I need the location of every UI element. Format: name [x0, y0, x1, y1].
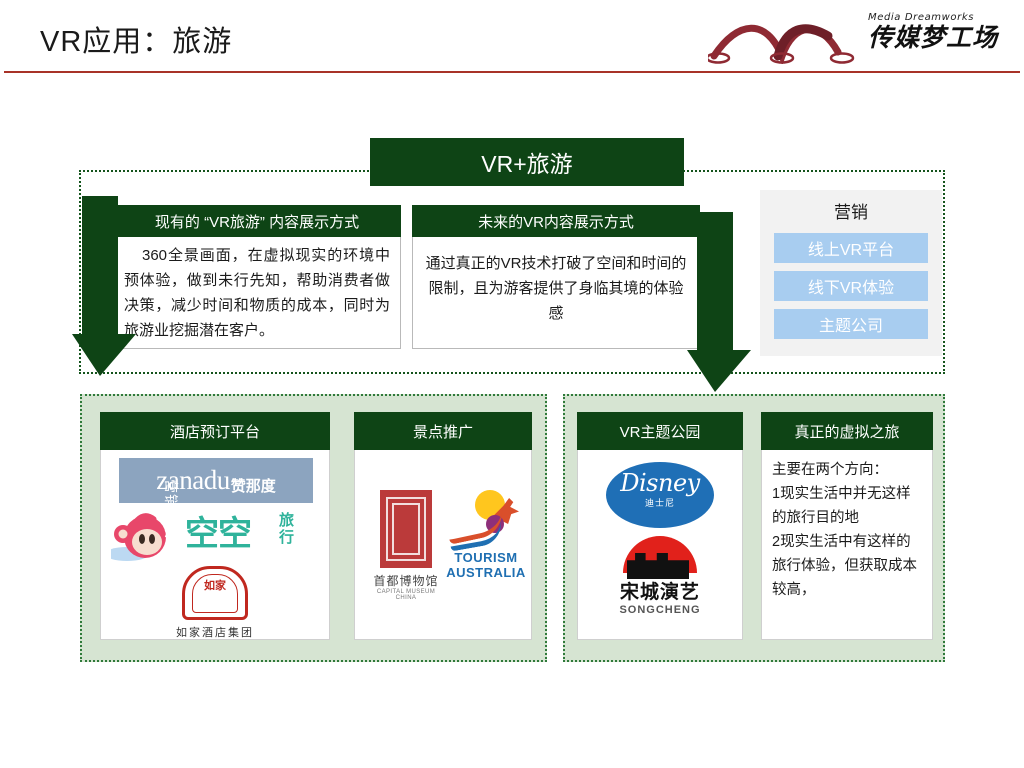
card-hotel-booking-title: 酒店预订平台 — [100, 412, 330, 450]
lower-dashed-region-left: 酒店预订平台 zanadu 赞那度 空空 旅 — [80, 394, 547, 662]
zanadu-logo: zanadu 赞那度 — [119, 458, 313, 503]
tourism-australia-line1: TOURISM — [443, 550, 529, 565]
card-hotel-booking: 酒店预订平台 zanadu 赞那度 空空 旅 — [100, 412, 330, 640]
kongkong-logo-suffix-top: 旅 — [279, 512, 294, 529]
card-vr-theme-park: VR主题公园 Disney 迪士尼 宋城演艺 SONGCHENG — [577, 412, 743, 640]
tourism-australia-line2: AUSTRALIA — [443, 565, 529, 580]
card-hotel-booking-body: zanadu 赞那度 空空 旅 行 — [100, 450, 330, 640]
arch-logo-mark-icon — [708, 16, 863, 64]
capital-museum-seal-icon — [380, 490, 432, 568]
card-true-virtual-trip: 真正的虚拟之旅 主要在两个方向： 1现实生活中并无这样的旅行目的地 2现实生活中… — [761, 412, 933, 640]
card-scenic-promotion: 景点推广 首都博物馆 CAPITAL MUSEUM CHINA TOURISM … — [354, 412, 532, 640]
panel-future-body: 通过真正的VR技术打破了空间和时间的限制，且为游客提供了身临其境的体验感 — [412, 237, 700, 349]
arrow-experience: 体验消费 — [683, 212, 755, 394]
songcheng-logo-english: SONGCHENG — [604, 604, 716, 616]
card-scenic-promotion-title: 景点推广 — [354, 412, 532, 450]
panel-current-title: 现有的 “VR旅游” 内容展示方式 — [113, 205, 401, 237]
card-scenic-promotion-body: 首都博物馆 CAPITAL MUSEUM CHINA TOURISM AUSTR… — [354, 450, 532, 640]
marketing-item-offline-vr-experience[interactable]: 线下VR体验 — [774, 271, 928, 301]
panel-future-title: 未来的VR内容展示方式 — [412, 205, 700, 237]
panel-current-body: 360全景画面，在虚拟现实的环境中预体验，做到未行先知，帮助消费者做决策，减少时… — [113, 237, 401, 349]
disney-logo: Disney 迪士尼 — [606, 462, 714, 528]
capital-museum-logo: 首都博物馆 CAPITAL MUSEUM CHINA — [367, 490, 445, 601]
logo-chinese-text: 传媒梦工场 — [868, 23, 1008, 53]
brand-logo: Media Dreamworks 传媒梦工场 — [708, 10, 1008, 66]
zanadu-logo-chinese: 赞那度 — [231, 475, 276, 496]
marketing-box: 营销 线上VR平台 线下VR体验 主题公司 — [760, 190, 942, 356]
songcheng-logo: 宋城演艺 SONGCHENG — [604, 536, 716, 616]
capital-museum-english: CAPITAL MUSEUM CHINA — [367, 589, 445, 601]
lower-dashed-region-right: VR主题公园 Disney 迪士尼 宋城演艺 SONGCHENG 真正的虚拟之旅… — [563, 394, 945, 662]
kongkong-logo-suffix-bottom: 行 — [279, 529, 294, 546]
home-inn-mark: 如家 — [192, 574, 238, 613]
songcheng-mark-icon — [623, 536, 697, 582]
marketing-item-online-vr-platform[interactable]: 线上VR平台 — [774, 233, 928, 263]
vr-tourism-banner: VR+旅游 — [370, 138, 684, 186]
panel-current-vr-tourism: 现有的 “VR旅游” 内容展示方式 360全景画面，在虚拟现实的环境中预体验，做… — [113, 205, 401, 349]
home-inn-logo: 如家 如家酒店集团 — [163, 566, 267, 636]
card-vr-theme-park-body: Disney 迪士尼 宋城演艺 SONGCHENG — [577, 450, 743, 640]
card-true-virtual-trip-body: 主要在两个方向： 1现实生活中并无这样的旅行目的地 2现实生活中有这样的旅行体验… — [761, 450, 933, 640]
home-inn-caption: 如家酒店集团 — [163, 624, 267, 640]
kongkong-travel-logo: 空空 旅 行 — [111, 508, 321, 564]
page-title: VR应用：旅游 — [40, 18, 232, 60]
card-vr-theme-park-title: VR主题公园 — [577, 412, 743, 450]
arrow-marketing-label: 营销手段 — [161, 479, 181, 539]
marketing-item-theme-company[interactable]: 主题公司 — [774, 309, 928, 339]
card-true-virtual-trip-title: 真正的虚拟之旅 — [761, 412, 933, 450]
tourism-australia-logo: TOURISM AUSTRALIA — [443, 488, 529, 580]
logo-english-text: Media Dreamworks — [868, 12, 1008, 23]
logo-text: Media Dreamworks 传媒梦工场 — [868, 12, 1008, 53]
tourism-australia-kangaroo-icon — [443, 488, 529, 550]
songcheng-logo-chinese: 宋城演艺 — [604, 582, 716, 604]
capital-museum-chinese: 首都博物馆 — [367, 572, 445, 589]
home-inn-shield-icon: 如家 — [182, 566, 248, 620]
kongkong-logo-chinese: 空空 — [185, 514, 251, 554]
panel-future-vr: 未来的VR内容展示方式 通过真正的VR技术打破了空间和时间的限制，且为游客提供了… — [412, 205, 700, 349]
header-divider — [4, 71, 1020, 73]
marketing-title: 营销 — [774, 198, 928, 223]
page-header: VR应用：旅游 Media Dreamworks 传媒梦工场 — [0, 0, 1024, 72]
arrow-marketing: 营销手段 — [68, 196, 140, 378]
